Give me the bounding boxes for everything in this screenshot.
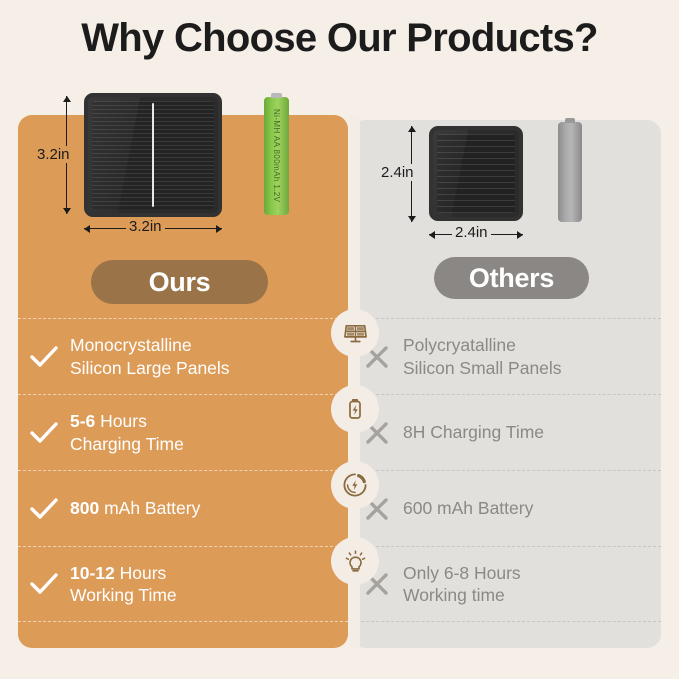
feature-text: 10-12 Hours Working Time <box>70 562 177 607</box>
lightbulb-icon <box>331 537 379 585</box>
others-battery-image <box>558 122 582 222</box>
feature-line-2: Working Time <box>70 585 177 605</box>
ours-battery-label: Ni-MH AA 800mAh 1.2V <box>272 109 281 202</box>
solar-busbar <box>152 103 155 207</box>
others-feature-list: Polycryatalline Silicon Small Panels 8H … <box>351 318 661 622</box>
feature-text: Monocrystalline Silicon Large Panels <box>70 334 230 379</box>
others-badge: Others <box>434 257 589 299</box>
feature-row: 800 mAh Battery <box>18 470 348 546</box>
battery-label-wrap: Ni-MH AA 800mAh 1.2V <box>264 97 289 215</box>
feature-row: 8H Charging Time <box>351 394 661 470</box>
feature-row: Monocrystalline Silicon Large Panels <box>18 318 348 394</box>
feature-line-1: Only 6-8 Hours <box>403 563 521 583</box>
others-width-label: 2.4in <box>452 224 491 241</box>
others-height-label: 2.4in <box>378 164 417 181</box>
feature-row: 600 mAh Battery <box>351 470 661 546</box>
ours-height-label: 3.2in <box>34 146 73 163</box>
feature-text: 5-6 Hours Charging Time <box>70 410 184 455</box>
feature-line-1: 8H Charging Time <box>403 422 544 442</box>
feature-line-2: Working time <box>403 585 505 605</box>
ours-battery-image: Ni-MH AA 800mAh 1.2V <box>264 97 289 215</box>
center-icon-rail <box>331 115 379 648</box>
check-mark-icon <box>18 421 70 445</box>
feature-line-2: Silicon Small Panels <box>403 358 562 378</box>
feature-highlight: 10-12 <box>70 563 115 583</box>
check-mark-icon <box>18 345 70 369</box>
feature-text: 800 mAh Battery <box>70 497 200 519</box>
feature-row: 10-12 Hours Working Time <box>18 546 348 622</box>
feature-row: Polycryatalline Silicon Small Panels <box>351 318 661 394</box>
ours-solar-panel-image <box>84 93 222 217</box>
solar-panel-icon <box>331 309 379 357</box>
battery-cap <box>565 118 575 123</box>
feature-line-2: Silicon Large Panels <box>70 358 230 378</box>
ours-feature-list: Monocrystalline Silicon Large Panels 5-6… <box>18 318 348 622</box>
feature-line-1: Hours <box>115 563 167 583</box>
feature-line-2: Charging Time <box>70 434 184 454</box>
feature-line-1: Hours <box>95 411 147 431</box>
charging-circle-icon <box>331 461 379 509</box>
ours-width-label: 3.2in <box>126 218 165 235</box>
feature-highlight: 5-6 <box>70 411 95 431</box>
feature-line-1: 600 mAh Battery <box>403 498 533 518</box>
feature-line-1: mAh Battery <box>99 498 200 518</box>
feature-text: 600 mAh Battery <box>403 497 533 519</box>
feature-row: 5-6 Hours Charging Time <box>18 394 348 470</box>
feature-row: Only 6-8 Hours Working time <box>351 546 661 622</box>
feature-text: 8H Charging Time <box>403 421 544 443</box>
others-solar-panel-image <box>429 126 523 221</box>
ours-badge: Ours <box>91 260 268 304</box>
feature-line-1: Polycryatalline <box>403 335 516 355</box>
check-mark-icon <box>18 572 70 596</box>
feature-text: Only 6-8 Hours Working time <box>403 562 521 607</box>
check-mark-icon <box>18 497 70 521</box>
battery-bolt-icon <box>331 385 379 433</box>
feature-highlight: 800 <box>70 498 99 518</box>
feature-text: Polycryatalline Silicon Small Panels <box>403 334 562 379</box>
feature-line-1: Monocrystalline <box>70 335 192 355</box>
page-title: Why Choose Our Products? <box>0 16 679 61</box>
